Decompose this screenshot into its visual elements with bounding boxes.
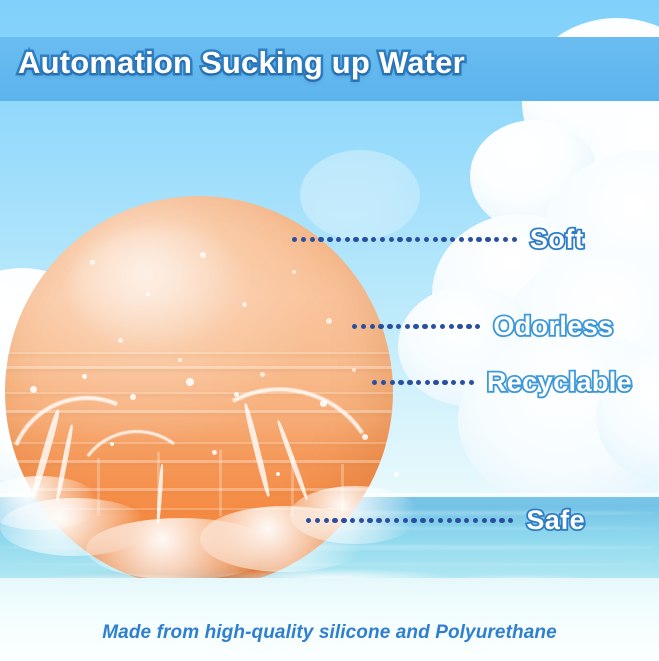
dotted-leader-icon (292, 237, 517, 242)
leader-dot (407, 380, 412, 385)
dotted-leader-icon (352, 324, 480, 329)
leader-dot (371, 237, 376, 242)
leader-dot (341, 518, 346, 523)
leader-dot (324, 518, 329, 523)
leader-dot (438, 518, 443, 523)
leader-dot (315, 518, 320, 523)
leader-dot (336, 237, 341, 242)
leader-dot (420, 518, 425, 523)
feature-label-odorless: Odorless (493, 311, 613, 342)
leader-dot (485, 237, 490, 242)
leader-dot (482, 518, 487, 523)
leader-dot (406, 237, 411, 242)
rib-line (5, 442, 393, 444)
leader-dot (376, 518, 381, 523)
leader-dot (378, 324, 383, 329)
feature-label-recyclable: Recyclable (487, 367, 632, 398)
leader-dot (370, 324, 375, 329)
leader-dot (345, 237, 350, 242)
leader-dot (457, 324, 462, 329)
leader-dot (385, 518, 390, 523)
dotted-leader-icon (306, 518, 513, 523)
leader-dot (398, 380, 403, 385)
leader-dot (396, 324, 401, 329)
leader-dot (389, 237, 394, 242)
leader-dot (512, 237, 517, 242)
leader-dot (449, 324, 454, 329)
leader-dot (416, 380, 421, 385)
leader-dot (441, 237, 446, 242)
leader-dot (350, 518, 355, 523)
leader-dot (327, 237, 332, 242)
rib-line (5, 352, 393, 354)
leader-dot (494, 237, 499, 242)
leader-dot (359, 518, 364, 523)
leader-dot (411, 518, 416, 523)
rib-line (5, 366, 393, 369)
leader-dot (424, 237, 429, 242)
leader-dot (292, 237, 297, 242)
rib-line (5, 392, 393, 394)
leader-dot (476, 237, 481, 242)
leader-dot (394, 518, 399, 523)
leader-dot (459, 237, 464, 242)
leader-dot (413, 324, 418, 329)
leader-dot (390, 380, 395, 385)
leader-dot (468, 237, 473, 242)
rib-line (5, 410, 393, 413)
leader-dot (431, 324, 436, 329)
leader-dot (469, 380, 474, 385)
material-caption: Made from high-quality silicone and Poly… (0, 622, 659, 644)
leader-dot (353, 237, 358, 242)
leader-dot (499, 518, 504, 523)
leader-dot (425, 380, 430, 385)
leader-dot (415, 237, 420, 242)
leader-dot (440, 324, 445, 329)
leader-dot (372, 380, 377, 385)
leader-dot (422, 324, 427, 329)
product-poster: Automation Sucking up Water Soft Odorles… (0, 0, 659, 661)
leader-dot (352, 324, 357, 329)
leader-dot (451, 380, 456, 385)
leader-dot (433, 237, 438, 242)
feature-callout-safe: Safe (306, 505, 585, 536)
rib-line (5, 460, 393, 463)
rib-divider (291, 456, 294, 516)
leader-dot (475, 324, 480, 329)
leader-dot (381, 380, 386, 385)
leader-dot (447, 518, 452, 523)
rib-line (5, 488, 393, 491)
leader-dot (460, 380, 465, 385)
feature-callout-soft: Soft (292, 224, 584, 255)
leader-dot (466, 324, 471, 329)
leader-dot (442, 380, 447, 385)
leader-dot (332, 518, 337, 523)
rib-divider (97, 458, 100, 516)
leader-dot (490, 518, 495, 523)
leader-dot (450, 237, 455, 242)
feature-callout-odorless: Odorless (352, 311, 614, 342)
leader-dot (387, 324, 392, 329)
leader-dot (301, 237, 306, 242)
feature-label-safe: Safe (526, 505, 585, 536)
leader-dot (405, 324, 410, 329)
leader-dot (403, 518, 408, 523)
leader-dot (508, 518, 513, 523)
dotted-leader-icon (372, 380, 474, 385)
leader-dot (433, 380, 438, 385)
leader-dot (361, 324, 366, 329)
leader-dot (310, 237, 315, 242)
leader-dot (473, 518, 478, 523)
leader-dot (306, 518, 311, 523)
page-title: Automation Sucking up Water (18, 45, 618, 81)
leader-dot (397, 237, 402, 242)
rib-divider (219, 450, 222, 516)
leader-dot (503, 237, 508, 242)
leader-dot (429, 518, 434, 523)
rib-divider (157, 452, 160, 516)
caption-band (0, 578, 659, 661)
leader-dot (455, 518, 460, 523)
feature-label-soft: Soft (530, 224, 584, 255)
leader-dot (362, 237, 367, 242)
feature-callout-recyclable: Recyclable (372, 367, 632, 398)
leader-dot (318, 237, 323, 242)
leader-dot (380, 237, 385, 242)
leader-dot (464, 518, 469, 523)
leader-dot (367, 518, 372, 523)
